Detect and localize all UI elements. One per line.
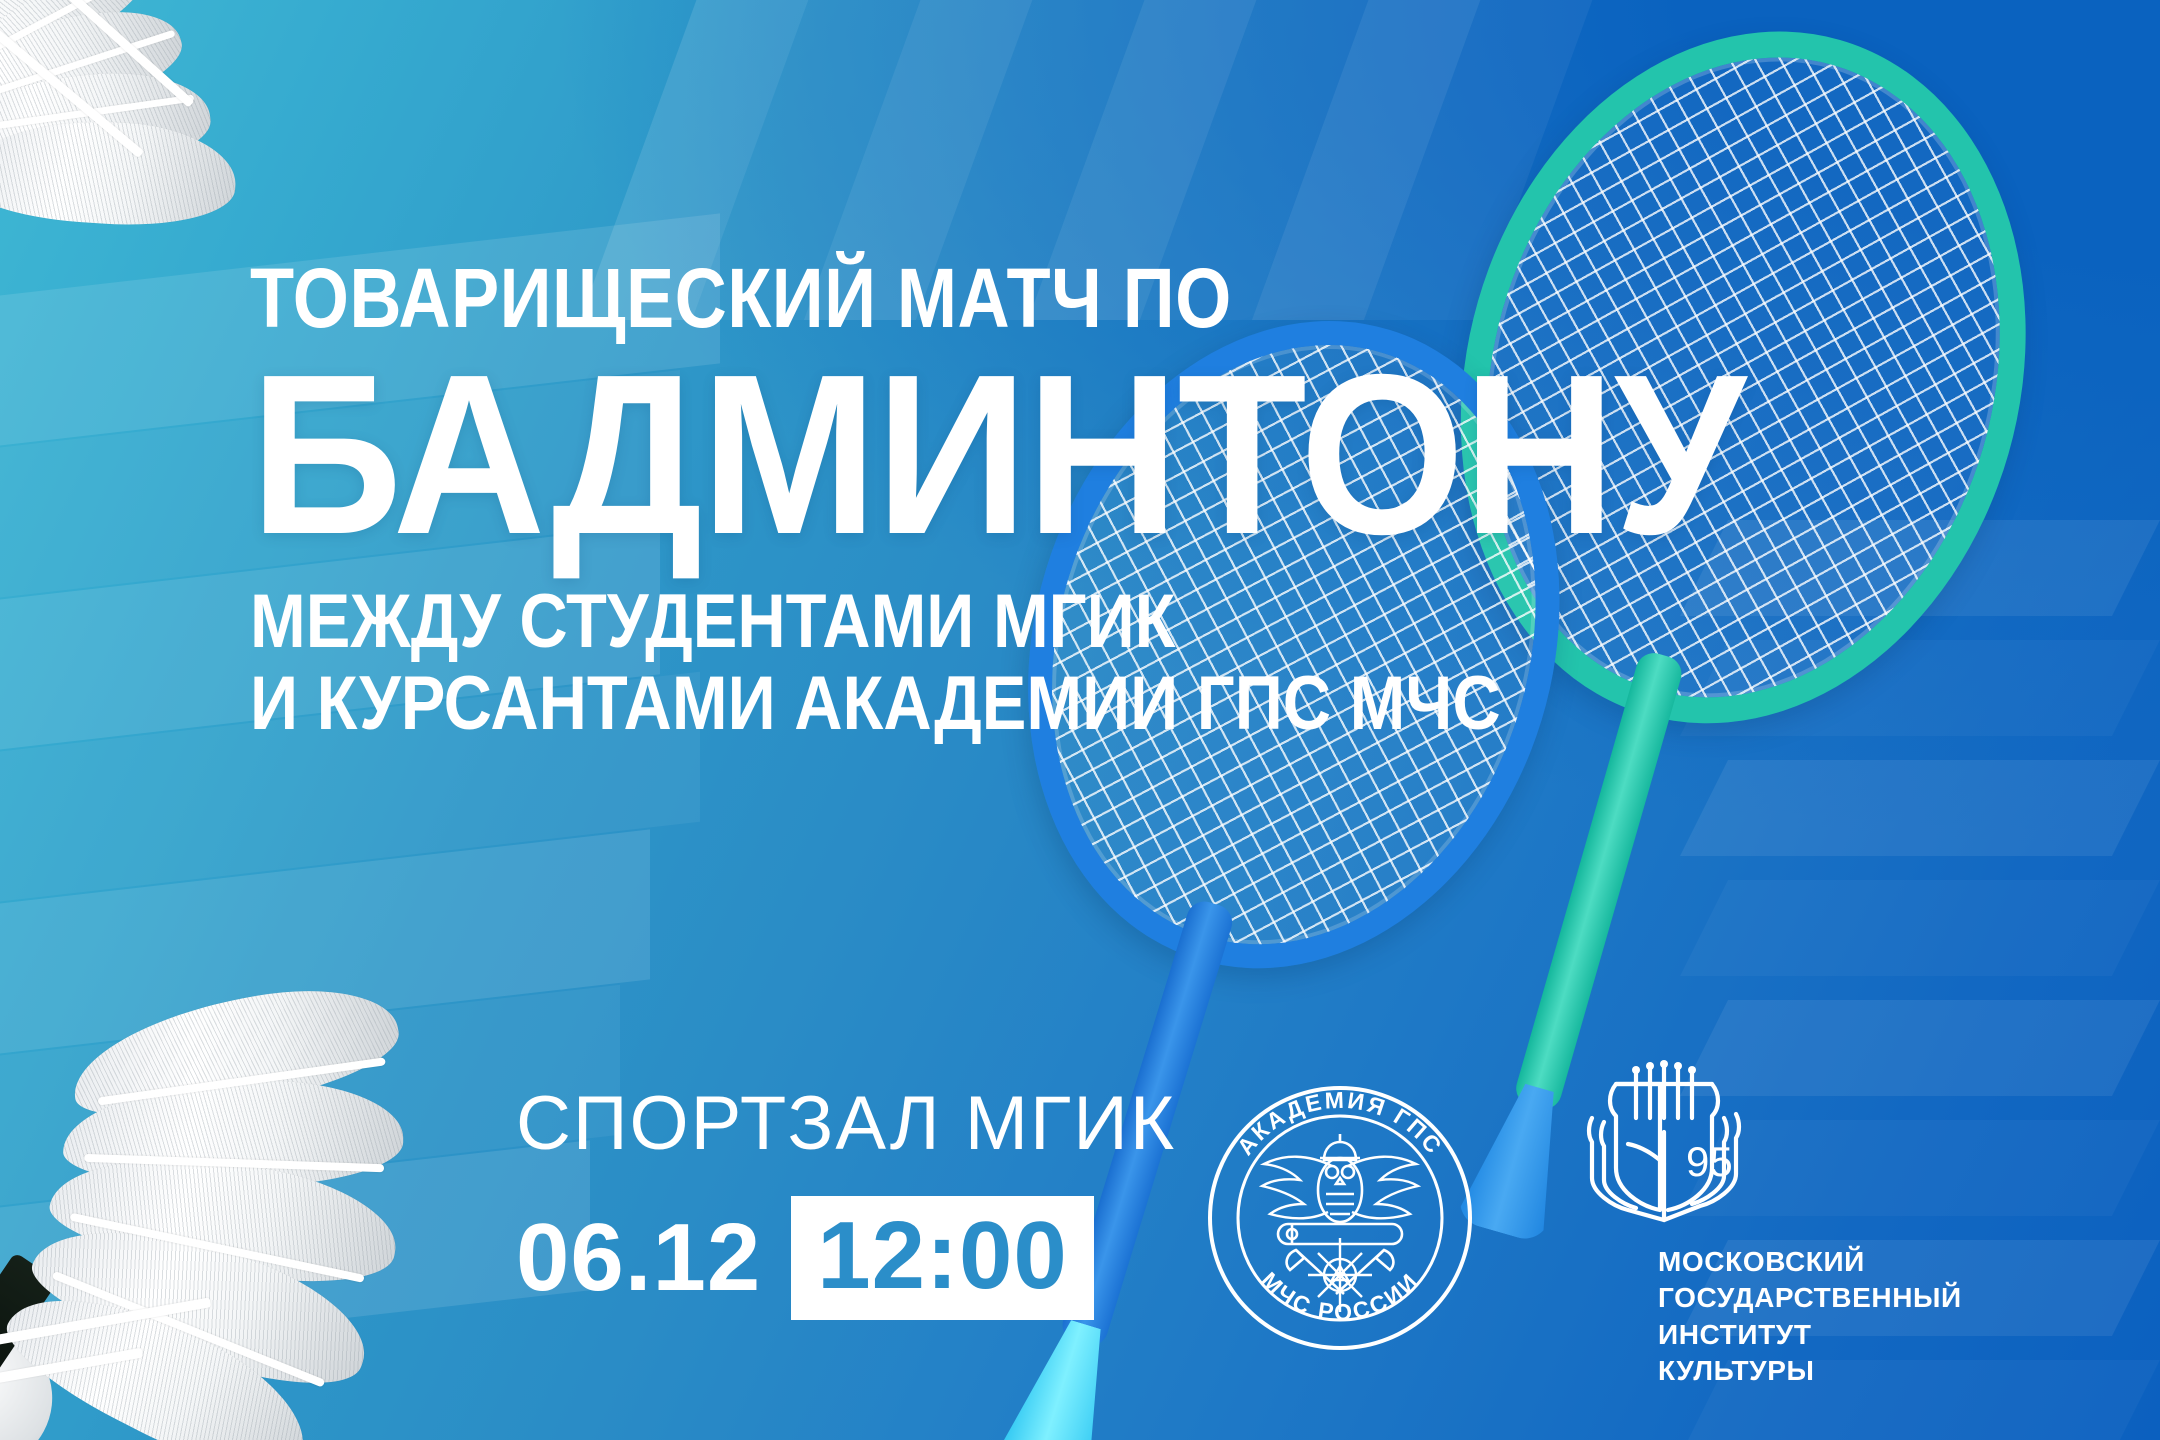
mgik-name: МОСКОВСКИЙ ГОСУДАРСТВЕННЫЙ ИНСТИТУТ КУЛЬ… [1658,1244,1908,1390]
venue-label: СПОРТЗАЛ МГИК [516,1086,1176,1162]
emblem-gps-mchs: АКАДЕМИЯ ГПС МЧС РОССИИ [1200,1078,1480,1358]
poster-subtitle-line-1: МЕЖДУ СТУДЕНТАМИ МГИК [250,581,1664,663]
gps-emblem-icon: АКАДЕМИЯ ГПС МЧС РОССИИ [1200,1078,1480,1358]
event-details: СПОРТЗАЛ МГИК 06.12 12:00 [516,1086,1176,1320]
event-date: 06.12 [516,1210,761,1306]
event-time: 12:00 [817,1208,1068,1304]
shuttlecock-bottom-left [0,952,526,1440]
mgik-name-line-3: ИНСТИТУТ [1658,1317,1908,1353]
mgik-name-line-1: МОСКОВСКИЙ [1658,1244,1908,1280]
poster-title: БАДМИНТОНУ [250,357,1744,553]
mgik-anniversary-number: 95 [1686,1138,1733,1185]
poster-subtitle-line-2: И КУРСАНТАМИ АКАДЕМИИ ГПС МЧС [250,663,1664,745]
mgik-name-line-4: КУЛЬТУРЫ [1658,1353,1908,1389]
mgik-lyre-book-icon: 95 [1578,1060,1908,1240]
event-time-box: 12:00 [791,1196,1094,1320]
poster-kicker: ТОВАРИЩЕСКИЙ МАТЧ ПО [250,258,1632,339]
badminton-match-poster: ТОВАРИЩЕСКИЙ МАТЧ ПО БАДМИНТОНУ МЕЖДУ СТ… [0,0,2160,1440]
date-time-row: 06.12 12:00 [516,1196,1176,1320]
mgik-name-line-2: ГОСУДАРСТВЕННЫЙ [1658,1280,1908,1316]
poster-text-block: ТОВАРИЩЕСКИЙ МАТЧ ПО БАДМИНТОНУ МЕЖДУ СТ… [250,258,1857,745]
emblem-mgik: 95 МОСКОВСКИЙ ГОСУДАРСТВЕННЫЙ ИНСТИТУТ К… [1578,1060,1908,1360]
